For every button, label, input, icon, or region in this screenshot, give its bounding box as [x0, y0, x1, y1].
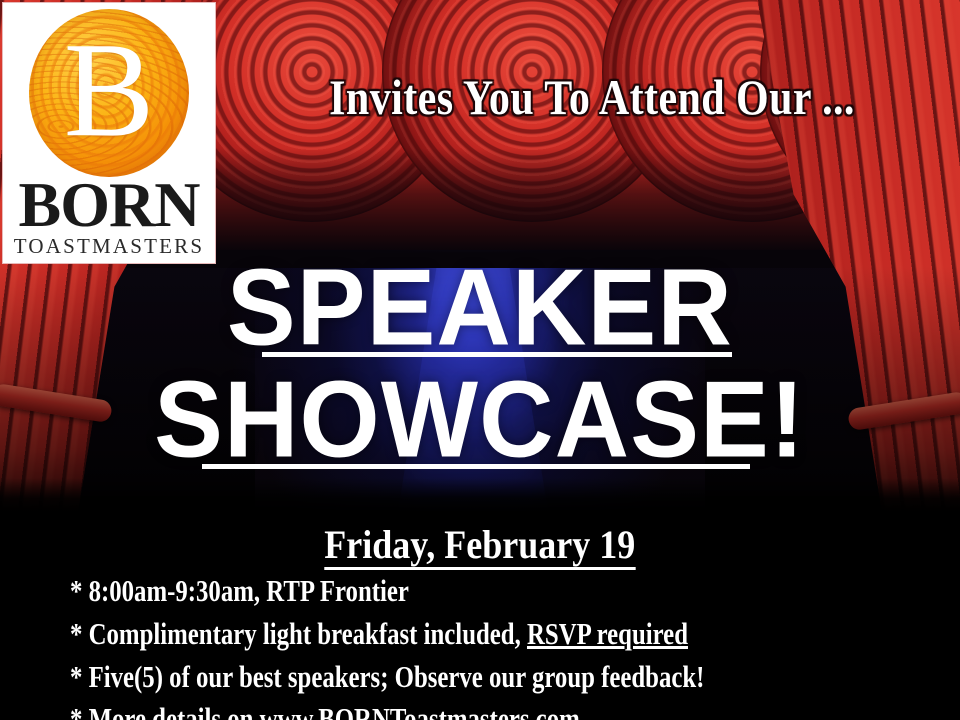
bullet-text: Complimentary light breakfast included, [89, 616, 527, 651]
bullet-text: Five(5) of our best speakers; Observe ou… [89, 659, 705, 694]
invitation-headline: Invites You To Attend Our ... [293, 72, 891, 122]
bullet-link: RSVP required [527, 616, 688, 651]
born-toastmasters-logo: B BORN TOASTMASTERS [2, 2, 216, 264]
title-underline-showcase [202, 464, 750, 469]
bullet-marker: * [70, 616, 82, 651]
bullet-marker: * [70, 701, 82, 720]
wood-grain-disc-icon: B [29, 9, 189, 177]
event-flyer-poster: Invites You To Attend Our ... SPEAKER SH… [0, 0, 960, 720]
event-date-text: Friday, February 19 [325, 524, 636, 570]
logo-org-subtitle: TOASTMASTERS [14, 234, 205, 259]
logo-org-name: BORN [19, 175, 200, 236]
title-line-speaker-text: SPEAKER [227, 254, 733, 363]
bullet-text: 8:00am-9:30am, RTP Frontier [89, 573, 409, 608]
title-line-showcase: SHOWCASE! [0, 374, 960, 466]
event-bullet-list: * 8:00am-9:30am, RTP Frontier * Complime… [70, 572, 950, 720]
title-underline-speaker [262, 352, 732, 357]
bullet-marker: * [70, 659, 82, 694]
list-item: * Five(5) of our best speakers; Observe … [70, 658, 950, 696]
stage-floor-fade [0, 478, 960, 512]
title-line-showcase-text: SHOWCASE! [154, 366, 805, 475]
logo-monogram: B [29, 22, 189, 158]
bullet-text: More details on [89, 701, 260, 720]
list-item: * Complimentary light breakfast included… [70, 615, 950, 653]
list-item: * More details on www.BORNToastmasters.c… [70, 700, 950, 720]
website-link[interactable]: www.BORNToastmasters.com [260, 701, 580, 720]
event-date: Friday, February 19 [0, 524, 960, 570]
event-details-panel: Friday, February 19 * 8:00am-9:30am, RTP… [0, 512, 960, 720]
bullet-marker: * [70, 573, 82, 608]
list-item: * 8:00am-9:30am, RTP Frontier [70, 572, 950, 610]
title-line-speaker: SPEAKER [0, 262, 960, 354]
